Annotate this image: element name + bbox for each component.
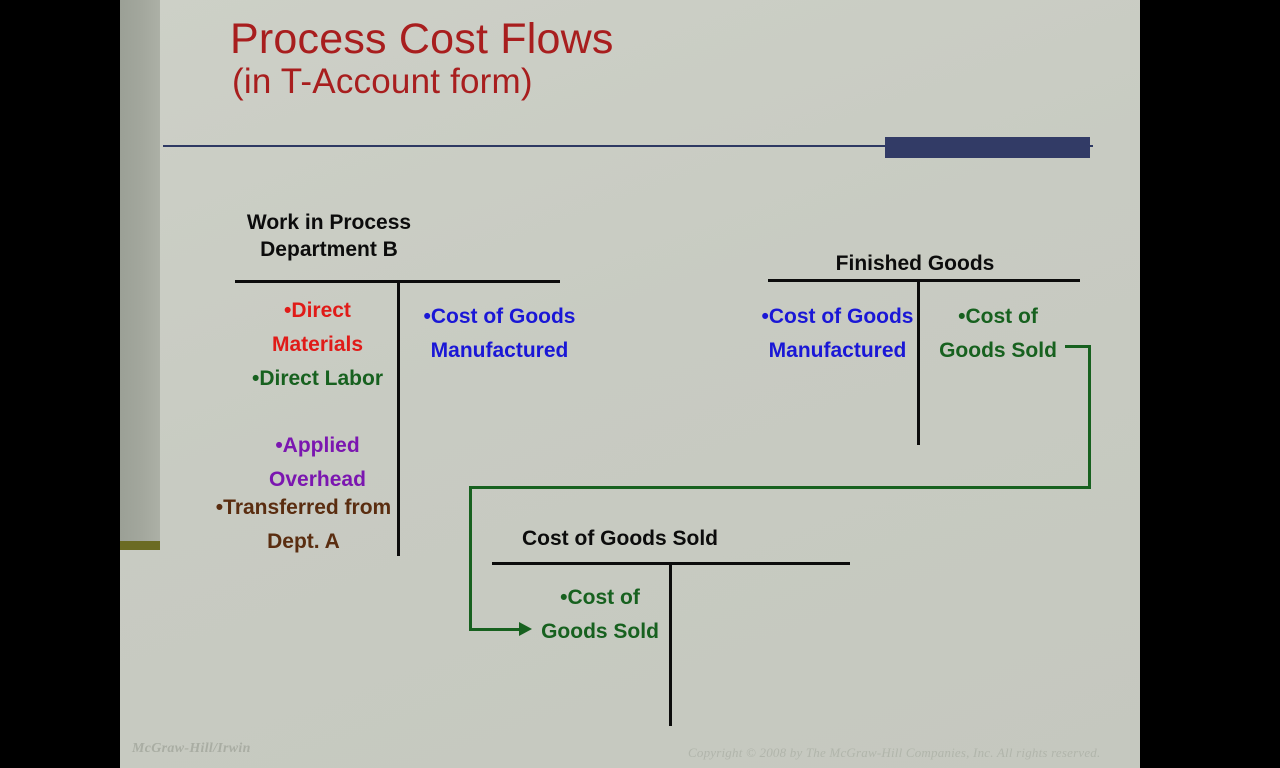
title-accent-bar [885, 137, 1090, 158]
flow-connector-segment-arrow-shaft [469, 628, 519, 631]
footer-publisher-label: McGraw-Hill/Irwin [132, 741, 251, 757]
slide-title-line-2: (in T-Account form) [230, 62, 990, 101]
wip-debit-entry-transferred-from-dept-a: •Transferred from Dept. A [212, 491, 395, 559]
t-account-heading-cost-of-goods-sold: Cost of Goods Sold [505, 526, 735, 553]
cogs-debit-entry-cost-of-goods-sold: •Cost of Goods Sold [530, 581, 670, 649]
slide-title: Process Cost Flows (in T-Account form) [230, 16, 990, 101]
footer-copyright-label: Copyright © 2008 by The McGraw-Hill Comp… [688, 745, 1100, 761]
flow-connector-segment-vertical-left [469, 486, 472, 631]
t-account-vline-work-in-process [397, 281, 400, 556]
flow-connector-arrowhead-icon [519, 622, 532, 636]
fg-debit-entry-cost-of-goods-manufactured: •Cost of Goods Manufactured [760, 300, 915, 368]
wip-debit-entry-direct-labor: •Direct Labor [240, 362, 395, 396]
slide-stage: Process Cost Flows (in T-Account form) W… [0, 0, 1280, 768]
t-account-heading-work-in-process: Work in Process Department B [215, 210, 443, 264]
side-strip-decoration [120, 0, 160, 541]
t-account-hline-finished-goods [768, 279, 1080, 282]
flow-connector-segment-horizontal [469, 486, 1091, 489]
side-strip-cap-decoration [120, 541, 160, 550]
slide-title-line-1: Process Cost Flows [230, 16, 990, 62]
t-account-heading-finished-goods: Finished Goods [800, 251, 1030, 278]
slide-canvas: Process Cost Flows (in T-Account form) W… [120, 0, 1140, 768]
t-account-vline-finished-goods [917, 280, 920, 445]
wip-debit-entry-applied-overhead: •Applied Overhead [240, 429, 395, 497]
fg-credit-entry-cost-of-goods-sold: •Cost of Goods Sold [928, 300, 1068, 368]
wip-credit-entry-cost-of-goods-manufactured: •Cost of Goods Manufactured [407, 300, 592, 368]
flow-connector-segment-vertical-right [1088, 345, 1091, 489]
flow-connector-segment-stub-top [1065, 345, 1091, 348]
wip-debit-entry-direct-materials: •Direct Materials [240, 294, 395, 362]
